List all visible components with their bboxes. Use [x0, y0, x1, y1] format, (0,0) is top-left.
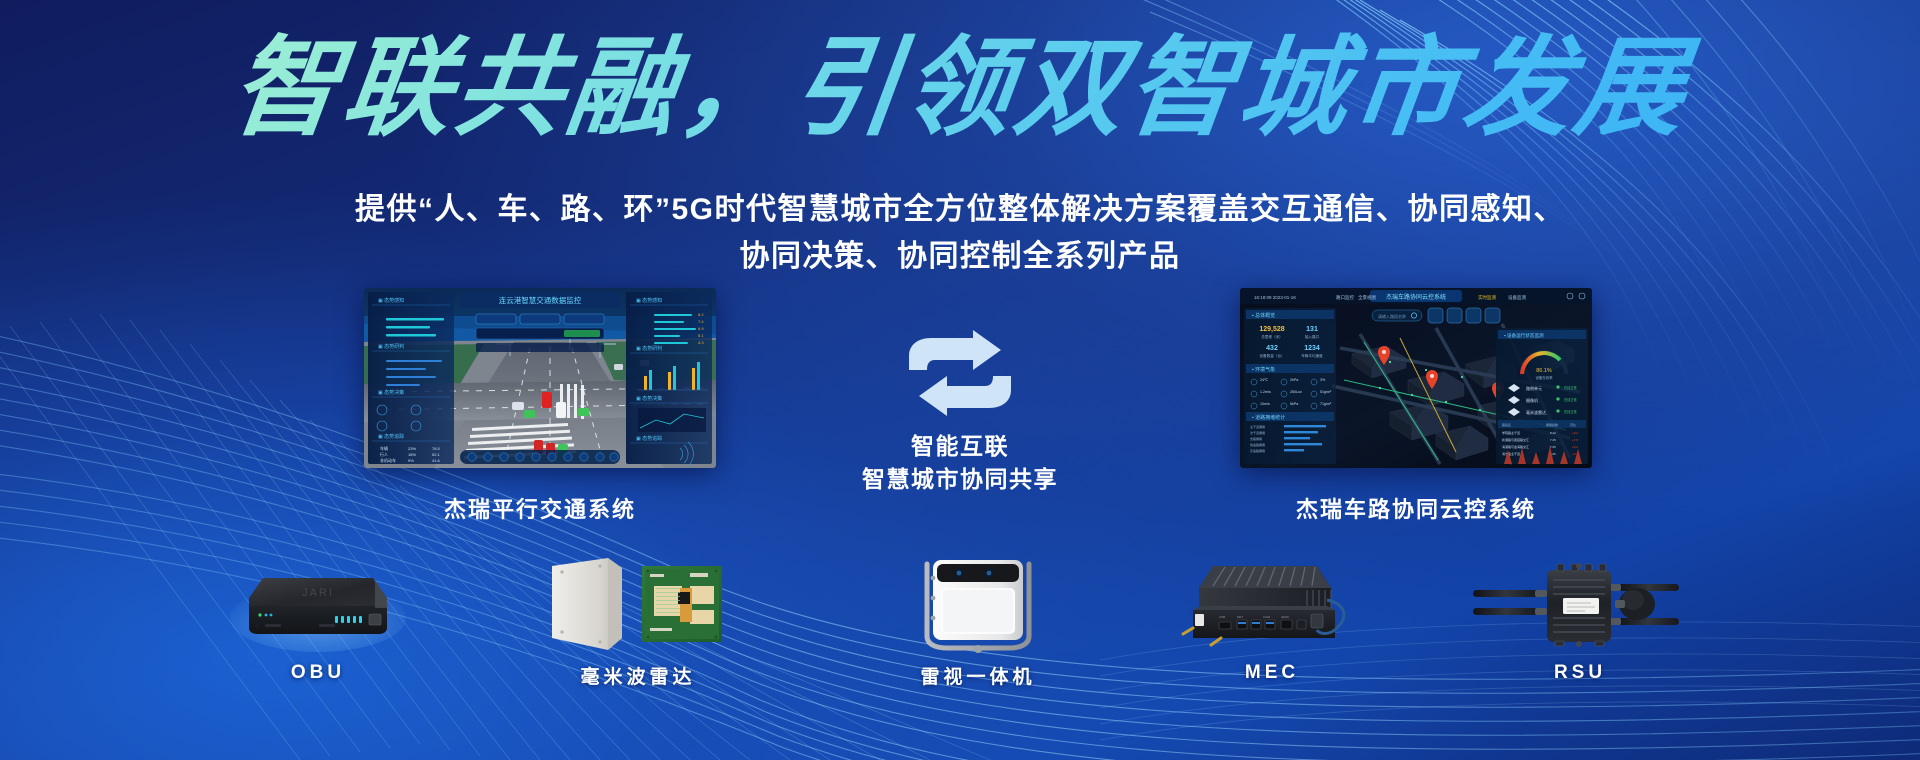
interconnect-line-2: 智慧城市协同共享: [810, 463, 1110, 496]
product-label-mec: MEC: [1142, 662, 1402, 684]
svg-text:设备数量（台）: 设备数量（台）: [1259, 353, 1284, 358]
svg-text:主干道拥堵: 主干道拥堵: [1250, 424, 1265, 429]
svg-text:摄像机: 摄像机: [1526, 397, 1538, 403]
svg-text:1234: 1234: [1304, 345, 1320, 352]
svg-text:JARI: JARI: [302, 587, 334, 599]
svg-text:实时监测: 实时监测: [1478, 294, 1496, 301]
svg-text:快速路拥堵: 快速路拥堵: [1250, 442, 1265, 447]
svg-text:路口监控: 路口监控: [1336, 294, 1354, 301]
svg-text:▪ 环境气象: ▪ 环境气象: [1252, 366, 1275, 373]
svg-text:HDMI: HDMI: [1281, 615, 1289, 619]
svg-text:260Lux: 260Lux: [1290, 390, 1302, 394]
svg-text:▪ 总体概览: ▪ 总体概览: [1252, 312, 1275, 319]
radar-vision-art: [848, 552, 1108, 656]
product-item-mec[interactable]: USBNET COMHDMI MEC: [1142, 552, 1402, 684]
svg-text:▣ 态势决策: ▣ 态势决策: [636, 395, 662, 402]
svg-text:路侧单元: 路侧单元: [1526, 385, 1542, 391]
svg-text:5kPa: 5kPa: [1290, 402, 1298, 406]
svg-text:设备监测: 设备监测: [1508, 294, 1526, 301]
svg-text:▪ 设备运行状态监测: ▪ 设备运行状态监测: [1504, 332, 1544, 339]
svg-text:非机动车: 非机动车: [380, 457, 396, 463]
product-row: JARI OBU: [0, 552, 1920, 712]
radar-device-icon: [538, 552, 738, 656]
left-screen-title: 连云港智慧交通数据监控: [499, 295, 582, 305]
product-label-radar-vision: 雷视一体机: [848, 662, 1108, 689]
svg-text:车辆平均速度: 车辆平均速度: [1301, 353, 1323, 358]
svg-text:2hPa: 2hPa: [1290, 378, 1298, 382]
svg-text:支路拥堵: 支路拥堵: [1250, 436, 1262, 441]
svg-text:设备在线率: 设备在线率: [1536, 375, 1554, 380]
svg-text:毫米波雷达: 毫米波雷达: [1526, 409, 1546, 415]
svg-text:次干道拥堵: 次干道拥堵: [1250, 430, 1265, 435]
product-label-rsu: RSU: [1450, 662, 1710, 684]
svg-text:5.1: 5.1: [698, 333, 704, 338]
svg-text:1.2m/s: 1.2m/s: [1260, 390, 1271, 394]
right-screen-title: 杰瑞车路协同云控系统: [1386, 293, 1446, 301]
svg-text:41.6: 41.6: [432, 458, 441, 463]
svg-text:71g/m³: 71g/m³: [1320, 402, 1332, 406]
svg-text:▣ 态势研判: ▣ 态势研判: [636, 345, 662, 352]
svg-text:行人: 行人: [380, 451, 388, 457]
svg-text:COM: COM: [1263, 615, 1271, 619]
svg-text:USB: USB: [1219, 615, 1225, 619]
svg-text:51g/m³: 51g/m³: [1320, 390, 1332, 394]
product-item-radar-vision[interactable]: 雷视一体机: [848, 552, 1108, 689]
svg-text:9%: 9%: [408, 458, 414, 463]
subtitle-line-2: 协同决策、协同控制全系列产品: [0, 233, 1920, 280]
mec-device-icon: USBNET COMHDMI: [1177, 552, 1367, 656]
subtitle-line-1: 提供“人、车、路、环”5G时代智慧城市全方位整体解决方案覆盖交互通信、协同感知、: [0, 186, 1920, 233]
page-subtitle: 提供“人、车、路、环”5G时代智慧城市全方位整体解决方案覆盖交互通信、协同感知、…: [0, 186, 1920, 281]
interconnect-text: 智能互联 智慧城市协同共享: [810, 430, 1110, 495]
product-label-mmwave-radar: 毫米波雷达: [508, 662, 768, 689]
radar-art: [508, 552, 768, 656]
svg-text:海宁路主干道: 海宁路主干道: [1502, 451, 1520, 456]
svg-text:在线正常: 在线正常: [1564, 409, 1577, 414]
svg-text:16:18:09 2023-01-18: 16:18:09 2023-01-18: [1254, 295, 1296, 300]
svg-text:▣ 态势追踪: ▣ 态势追踪: [636, 435, 662, 442]
svg-text:+6.2: +6.2: [1572, 445, 1578, 449]
svg-text:131: 131: [1306, 326, 1318, 333]
interconnect-line-1: 智能互联: [810, 430, 1110, 463]
product-item-rsu[interactable]: RSU: [1450, 552, 1710, 684]
svg-text:高速路拥堵: 高速路拥堵: [1250, 448, 1265, 453]
product-label-obu: OBU: [188, 662, 448, 684]
svg-text:4.3: 4.3: [698, 340, 704, 345]
svg-text:请输入路段名称: 请输入路段名称: [1378, 313, 1406, 319]
svg-text:432: 432: [1266, 345, 1278, 352]
right-screen-caption: 杰瑞车路协同云控系统: [1236, 492, 1596, 524]
svg-text:18%: 18%: [408, 452, 416, 457]
svg-text:▣ 态势追踪: ▣ 态势追踪: [378, 433, 404, 440]
obu-device-icon: JARI: [223, 556, 413, 656]
svg-text:3%: 3%: [1320, 378, 1326, 382]
product-item-obu[interactable]: JARI OBU: [188, 552, 448, 684]
svg-text:同比: 同比: [1570, 422, 1576, 427]
svg-text:▣ 态势感知: ▣ 态势感知: [378, 297, 404, 304]
radar-vision-device-icon: [903, 552, 1053, 656]
svg-text:全景视图: 全景视图: [1358, 294, 1376, 301]
svg-text:总里程（米）: 总里程（米）: [1261, 334, 1283, 339]
interconnect-block: 智能互联 智慧城市协同共享: [810, 330, 1110, 495]
right-dashboard-art: 杰瑞车路协同云控系统 16:18:09 2023-01-18 路口监控 全景视图…: [1240, 288, 1592, 468]
svg-text:新港路与康园路交汇: 新港路与康园路交汇: [1502, 437, 1529, 442]
svg-text:拥堵指数: 拥堵指数: [1546, 422, 1558, 427]
svg-text:▣ 态势决策: ▣ 态势决策: [378, 389, 404, 396]
svg-text:23%: 23%: [408, 446, 416, 451]
svg-text:▪ 道路拥堵统计: ▪ 道路拥堵统计: [1252, 414, 1285, 421]
obu-art: JARI: [188, 552, 448, 656]
rsu-art: [1450, 552, 1710, 656]
svg-text:+7.8: +7.8: [1572, 438, 1578, 442]
svg-text:车辆: 车辆: [380, 445, 388, 451]
svg-text:NET: NET: [1237, 615, 1243, 619]
product-item-mmwave-radar[interactable]: 毫米波雷达: [508, 552, 768, 689]
svg-text:7.05: 7.05: [1550, 445, 1556, 449]
svg-text:学院路主干道: 学院路主干道: [1502, 430, 1520, 435]
svg-text:78.5: 78.5: [432, 446, 441, 451]
left-screen-caption: 杰瑞平行交通系统: [360, 492, 720, 524]
svg-text:在线正常: 在线正常: [1564, 385, 1577, 390]
svg-text:6.9: 6.9: [698, 326, 704, 331]
left-dashboard-screenshot: 连云港智慧交通数据监控 ▣ 态势感知 ▣ 态势研判 ▣ 态势决策 ▣ 态势追踪: [364, 288, 716, 468]
svg-text:86.1%: 86.1%: [1536, 368, 1552, 374]
svg-text:海港路与金海路交汇: 海港路与金海路交汇: [1502, 444, 1529, 449]
exchange-arrows-icon: [901, 330, 1019, 416]
svg-text:在线正常: 在线正常: [1564, 397, 1577, 402]
right-dashboard-screenshot: 杰瑞车路协同云控系统 16:18:09 2023-01-18 路口监控 全景视图…: [1240, 288, 1592, 468]
marketing-banner: 智联共融，引领双智城市发展 提供“人、车、路、环”5G时代智慧城市全方位整体解决…: [0, 0, 1920, 760]
rsu-device-icon: [1465, 556, 1695, 656]
svg-text:8.2: 8.2: [698, 312, 704, 317]
svg-text:路段名: 路段名: [1502, 422, 1511, 427]
page-title: 智联共融，引领双智城市发展: [0, 24, 1920, 151]
svg-text:▣ 态势研判: ▣ 态势研判: [378, 343, 404, 350]
svg-text:52.1: 52.1: [432, 452, 441, 457]
svg-text:接入路口: 接入路口: [1305, 334, 1320, 339]
mec-art: USBNET COMHDMI: [1142, 552, 1402, 656]
svg-text:▣ 态势感知: ▣ 态势感知: [636, 297, 662, 304]
svg-text:24℃: 24℃: [1260, 378, 1268, 382]
svg-text:129,528: 129,528: [1259, 326, 1284, 333]
svg-text:10m/s: 10m/s: [1260, 402, 1270, 406]
svg-text:7.4: 7.4: [698, 319, 704, 324]
svg-text:+9.2: +9.2: [1572, 431, 1578, 435]
svg-text:8.42: 8.42: [1550, 431, 1556, 435]
left-dashboard-art: 连云港智慧交通数据监控 ▣ 态势感知 ▣ 态势研判 ▣ 态势决策 ▣ 态势追踪: [364, 288, 716, 468]
svg-text:7.25: 7.25: [1550, 438, 1556, 442]
